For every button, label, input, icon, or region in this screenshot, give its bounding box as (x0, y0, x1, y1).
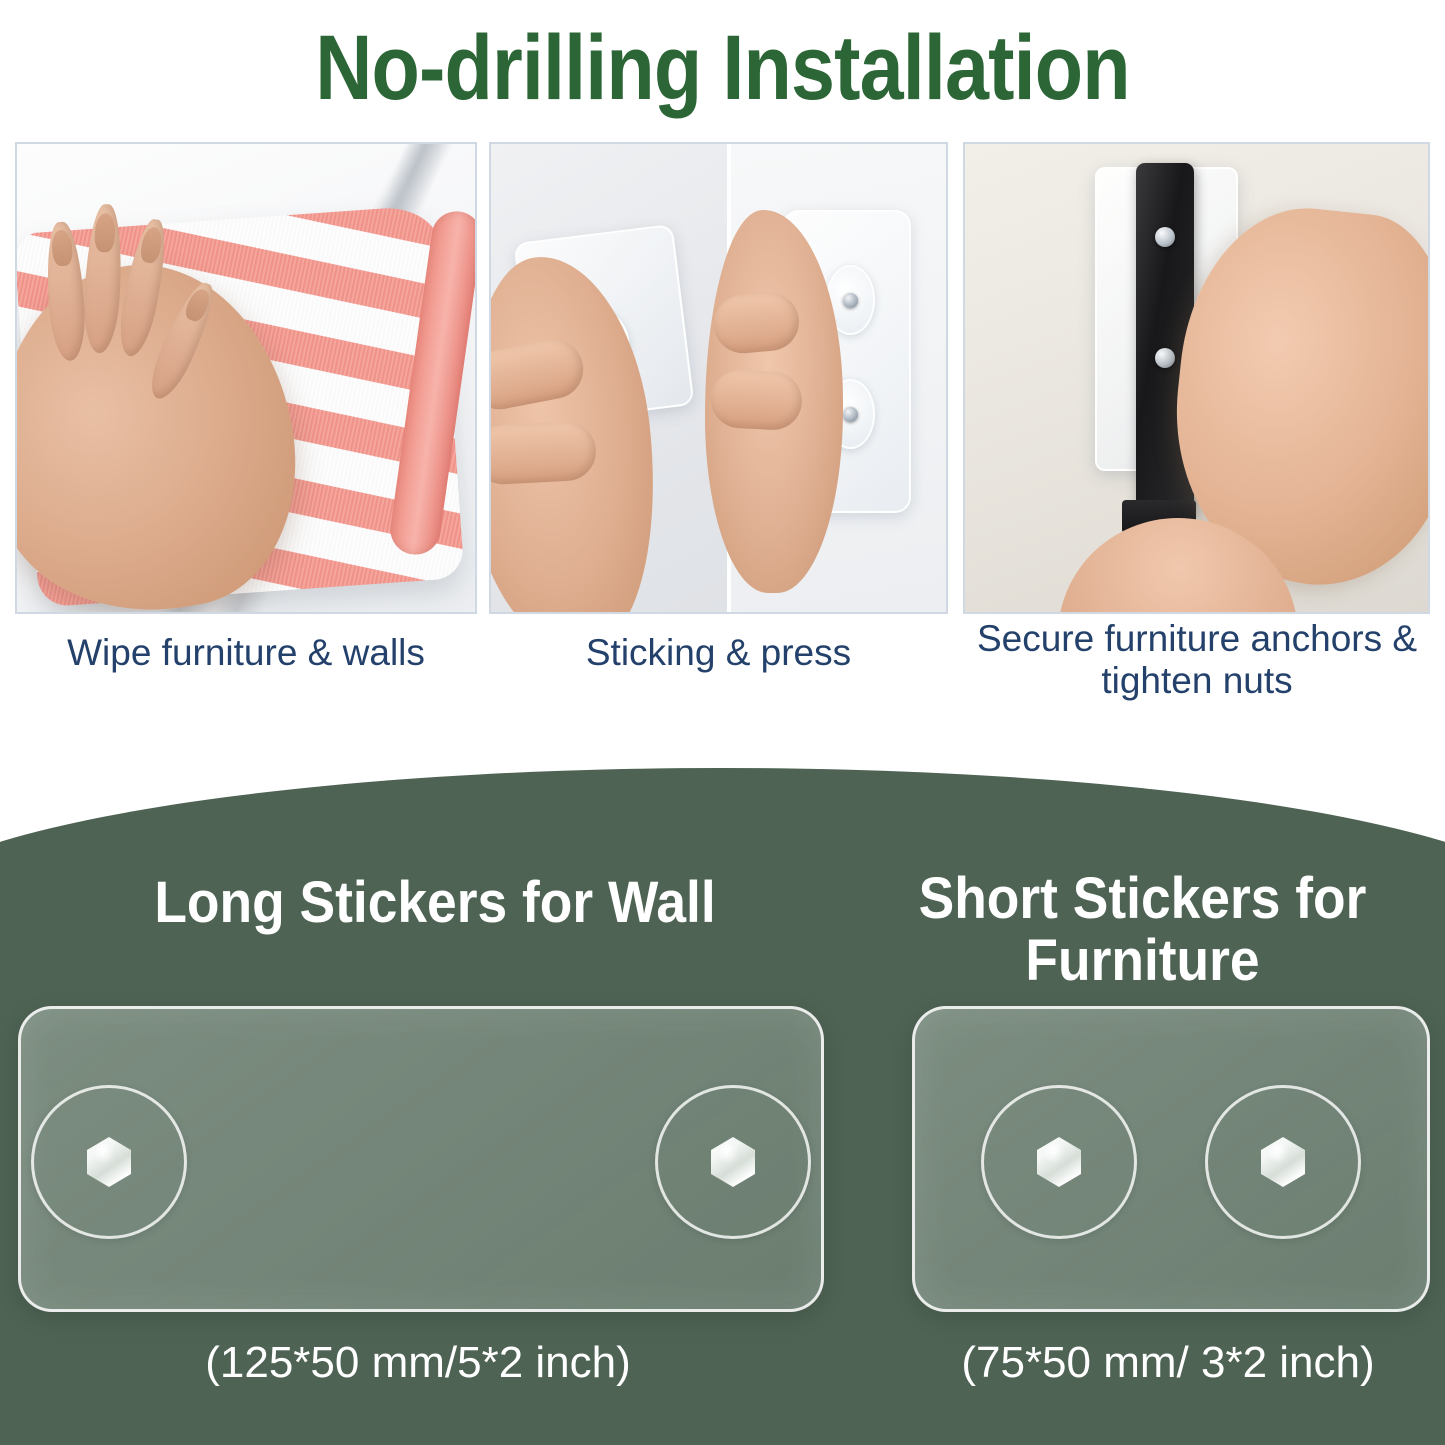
step-photo-wipe (15, 142, 477, 614)
mount-ring-icon (981, 1085, 1137, 1239)
peel-subphoto (491, 144, 728, 612)
press-subphoto (727, 144, 946, 612)
hex-nut-icon (711, 1137, 755, 1187)
page-title: No-drilling Installation (101, 16, 1344, 120)
short-sticker-dimensions: (75*50 mm/ 3*2 inch) (912, 1338, 1424, 1388)
bolt-icon (1155, 227, 1175, 247)
fingernail-icon (50, 229, 73, 266)
long-sticker-graphic (18, 1006, 824, 1312)
fingernail-icon (93, 213, 115, 253)
product-heading-long: Long Stickers for Wall (72, 872, 799, 934)
step-caption-stick: Sticking & press (489, 632, 948, 674)
mount-ring-icon (1205, 1085, 1361, 1239)
finger-icon (711, 290, 801, 355)
finger-icon (710, 368, 804, 430)
finger-icon (489, 421, 598, 486)
fingernail-icon (183, 286, 213, 323)
finger-icon (489, 335, 589, 415)
product-size-panel: Long Stickers for Wall Short Stickers fo… (0, 768, 1445, 1445)
hex-nut-icon (1037, 1137, 1081, 1187)
step-photo-secure (963, 142, 1430, 614)
bolt-icon (1155, 348, 1175, 368)
step-caption-secure: Secure furniture anchors & tighten nuts (955, 618, 1439, 702)
hex-nut-icon (87, 1137, 131, 1187)
short-sticker-graphic (912, 1006, 1430, 1312)
product-heading-short: Short Stickers for Furniture (883, 868, 1403, 992)
step-caption-wipe: Wipe furniture & walls (15, 632, 477, 674)
step-photo-stick (489, 142, 948, 614)
screw-icon (843, 407, 858, 422)
installation-photo-strip (0, 142, 1445, 614)
screw-icon (843, 293, 858, 308)
hex-nut-icon (1261, 1137, 1305, 1187)
long-sticker-dimensions: (125*50 mm/5*2 inch) (18, 1338, 818, 1388)
mount-ring-icon (31, 1085, 187, 1239)
mount-ring-icon (655, 1085, 811, 1239)
